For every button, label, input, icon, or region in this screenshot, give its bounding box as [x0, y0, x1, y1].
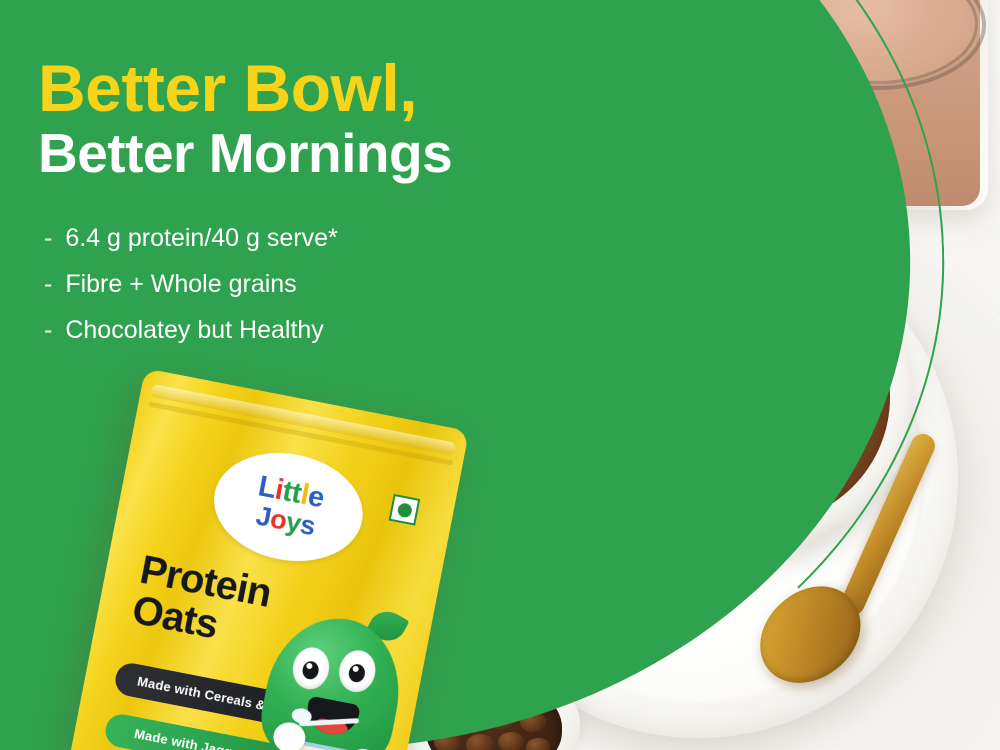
advertisement-banner: Better Bowl, Better Mornings - 6.4 g pro… [0, 0, 1000, 750]
benefit-list: - 6.4 g protein/40 g serve* - Fibre + Wh… [44, 226, 618, 343]
vegetarian-mark-icon [389, 494, 421, 526]
vegetarian-mark-dot [396, 502, 412, 518]
bullet-text: Chocolatey but Healthy [65, 318, 323, 343]
page-title: Better Bowl, Better Mornings [38, 56, 618, 182]
bullet-dash: - [44, 272, 52, 297]
headline-line-2: Better Mornings [38, 125, 618, 183]
list-item: - Fibre + Whole grains [44, 272, 618, 297]
bullet-text: 6.4 g protein/40 g serve* [65, 226, 337, 251]
copy-block: Better Bowl, Better Mornings - 6.4 g pro… [38, 56, 618, 364]
bullet-dash: - [44, 226, 52, 251]
list-item: - 6.4 g protein/40 g serve* [44, 226, 618, 251]
bullet-text: Fibre + Whole grains [65, 272, 296, 297]
bullet-dash: - [44, 318, 52, 343]
headline-line-1: Better Bowl, [38, 56, 618, 121]
list-item: - Chocolatey but Healthy [44, 318, 618, 343]
